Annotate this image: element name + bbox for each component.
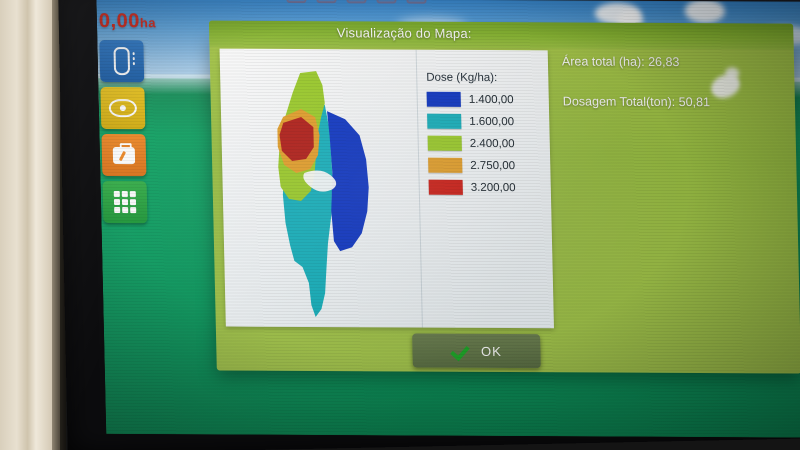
green-check-icon	[451, 343, 467, 359]
eye-icon	[109, 99, 137, 117]
stat-area-total: Área total (ha): 26,83	[562, 54, 782, 69]
sidebar-item-tools[interactable]	[101, 134, 146, 176]
legend-item: 1.400,00	[427, 90, 545, 110]
top-toolbar-ghost	[286, 0, 547, 2]
legend-item: 1.600,00	[427, 112, 545, 132]
wall-background	[0, 0, 60, 450]
area-readout-value: 0,00	[99, 10, 140, 32]
sensor-probe-icon	[113, 47, 130, 75]
legend-swatch	[428, 136, 462, 151]
legend-swatch	[427, 92, 461, 107]
screen-wrapper: 1 0,00ha	[96, 0, 800, 438]
map-svg	[224, 55, 420, 324]
legend-label: 2.400,00	[470, 137, 515, 149]
light-glare	[725, 67, 739, 79]
stat-dosage-total: Dosagem Total(ton): 50,81	[563, 94, 783, 109]
legend-label: 3.200,00	[471, 181, 516, 193]
map-content-panel: Dose (Kg/ha): 1.400,00 1.600,00 2.400,00	[220, 49, 554, 329]
map-visualization-dialog: Visualização do Mapa:	[209, 35, 800, 374]
dialog-title: Visualização do Mapa:	[209, 21, 600, 49]
legend-title: Dose (Kg/ha):	[426, 72, 544, 85]
sidebar-item-sensor[interactable]	[99, 40, 144, 82]
map-legend: Dose (Kg/ha): 1.400,00 1.600,00 2.400,00	[426, 72, 547, 201]
toolbar-slot[interactable]	[376, 0, 396, 4]
toolbar-slot[interactable]	[406, 0, 426, 4]
photo-scene: 1 0,00ha	[0, 0, 800, 450]
ok-button[interactable]: OK	[412, 334, 541, 369]
sidebar-item-keypad[interactable]	[103, 181, 148, 223]
terminal-screen: 1 0,00ha	[96, 0, 800, 438]
legend-label: 1.400,00	[469, 93, 514, 105]
toolbar-slot[interactable]	[316, 0, 336, 3]
cloud-icon	[685, 0, 726, 23]
ok-button-label: OK	[481, 343, 502, 358]
toolbar-slot[interactable]	[286, 0, 306, 3]
legend-item: 2.750,00	[428, 156, 546, 176]
legend-item: 3.200,00	[429, 178, 547, 198]
sidebar-item-view[interactable]	[100, 87, 145, 129]
area-readout: 0,00ha	[99, 10, 157, 33]
left-sidebar	[99, 40, 149, 223]
prescription-map[interactable]	[224, 55, 420, 324]
legend-label: 1.600,00	[469, 115, 514, 127]
toolbox-icon	[113, 147, 135, 164]
legend-swatch	[427, 114, 461, 129]
legend-label: 2.750,00	[470, 159, 515, 171]
legend-swatch	[429, 180, 463, 195]
area-readout-unit: ha	[140, 15, 157, 30]
summary-stats: Área total (ha): 26,83 Dosagem Total(ton…	[562, 54, 784, 135]
legend-item: 2.400,00	[428, 134, 546, 154]
keypad-grid-icon	[114, 191, 137, 213]
legend-swatch	[428, 158, 462, 173]
toolbar-slot[interactable]	[346, 0, 366, 3]
